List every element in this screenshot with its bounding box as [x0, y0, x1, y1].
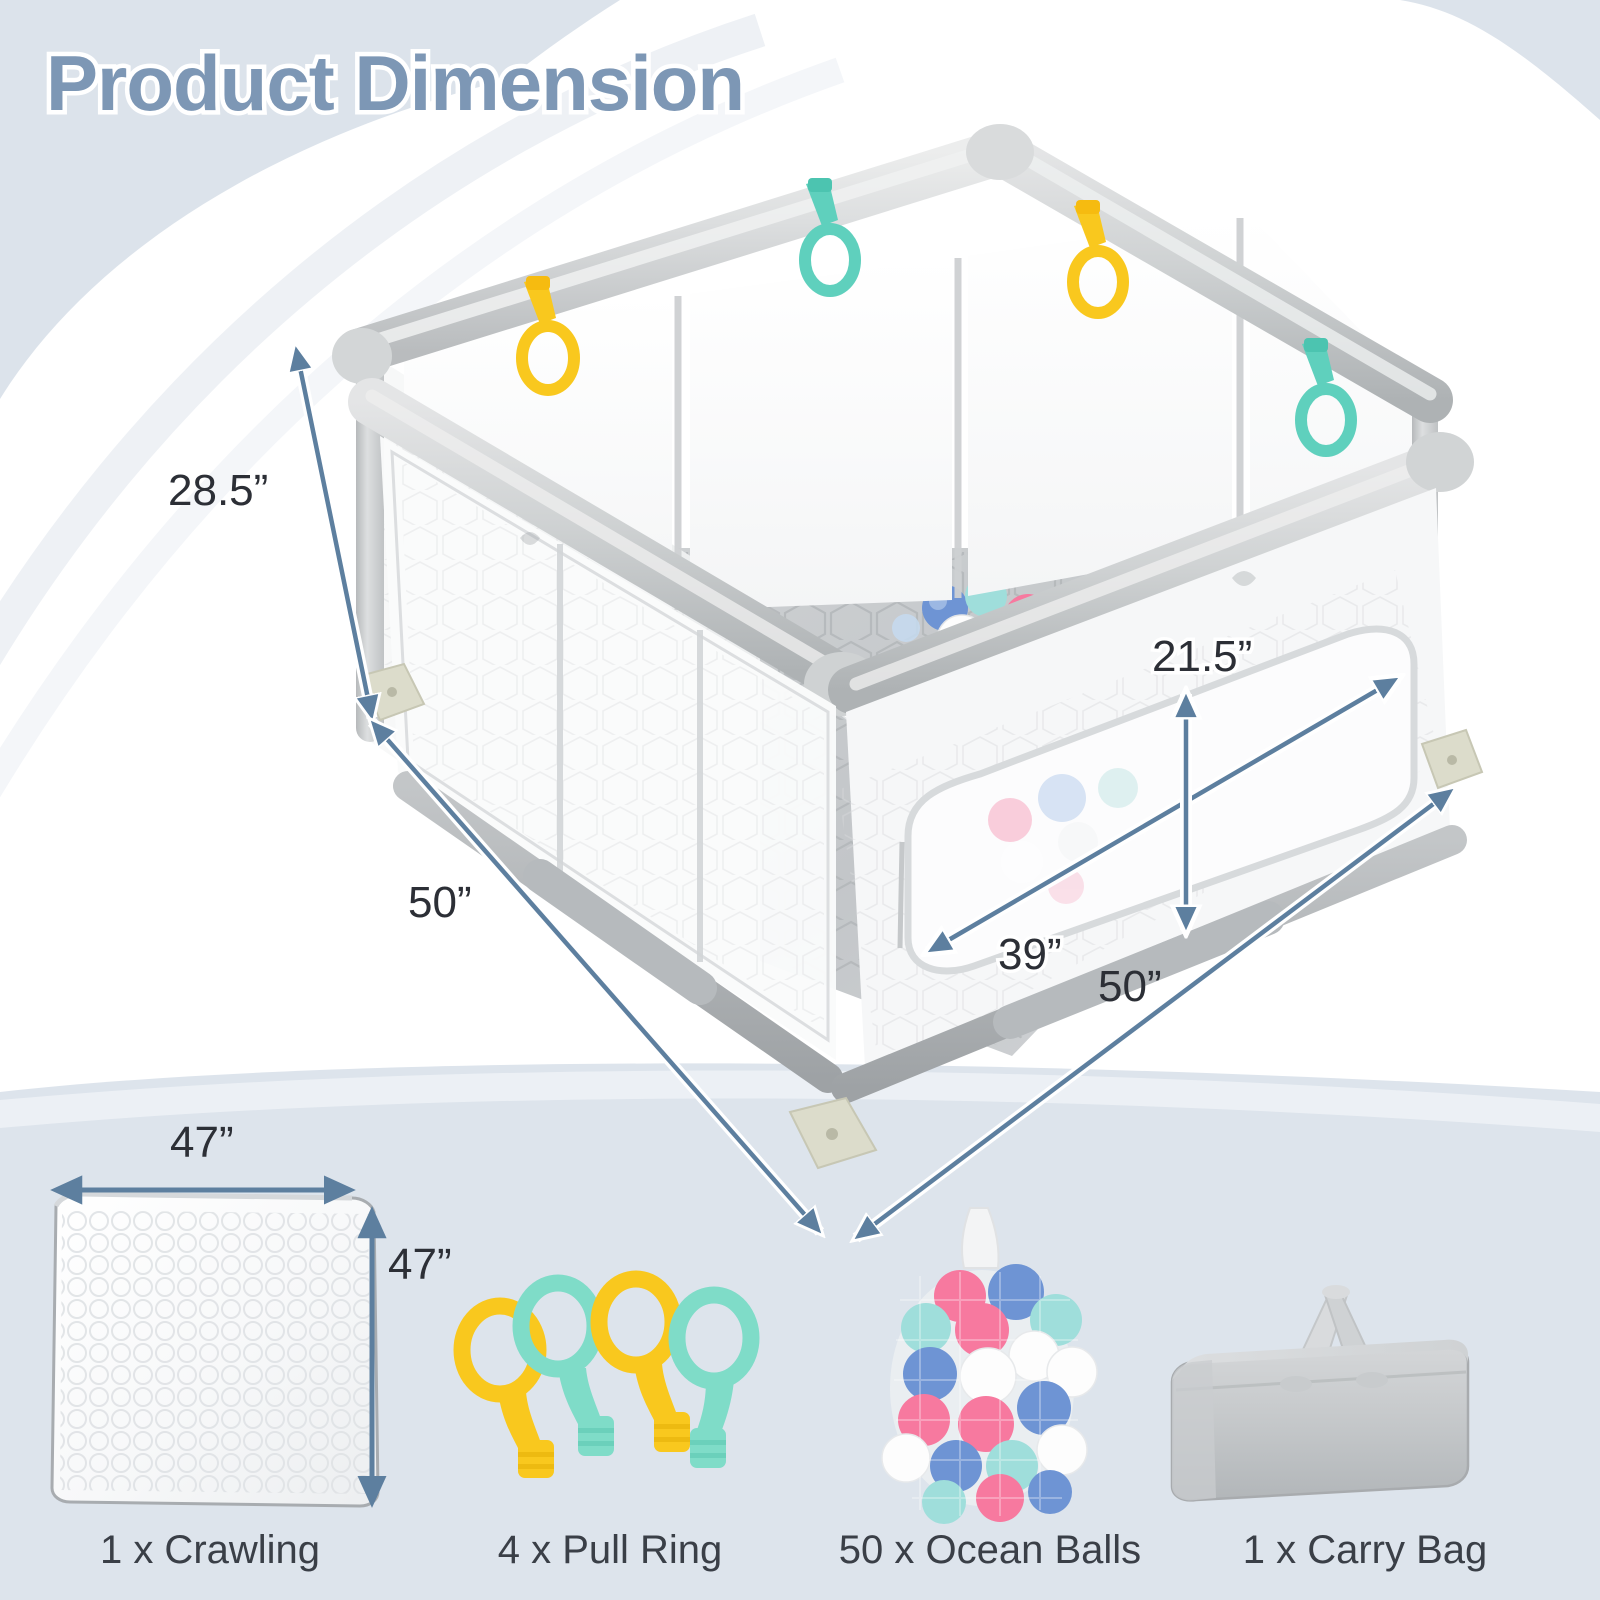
dim-label-mat-height: 47” [388, 1240, 452, 1290]
accessory-pull-rings [462, 1279, 751, 1478]
pull-ring-a [462, 1306, 554, 1478]
caption-carry-bag: 1 x Carry Bag [1165, 1528, 1565, 1573]
accessory-carry-bag [1172, 1285, 1468, 1500]
accessory-ocean-balls [882, 1208, 1097, 1524]
infographic-canvas: Product Dimension [0, 0, 1600, 1600]
caption-ocean-balls: 50 x Ocean Balls [790, 1528, 1190, 1573]
accessories-illustrations [0, 0, 1600, 1600]
accessory-crawling-mat [52, 1194, 378, 1506]
dim-label-mat-width: 47” [170, 1118, 234, 1168]
caption-pull-rings: 4 x Pull Ring [400, 1528, 820, 1573]
caption-crawling-mat: 1 x Crawling [0, 1528, 420, 1573]
